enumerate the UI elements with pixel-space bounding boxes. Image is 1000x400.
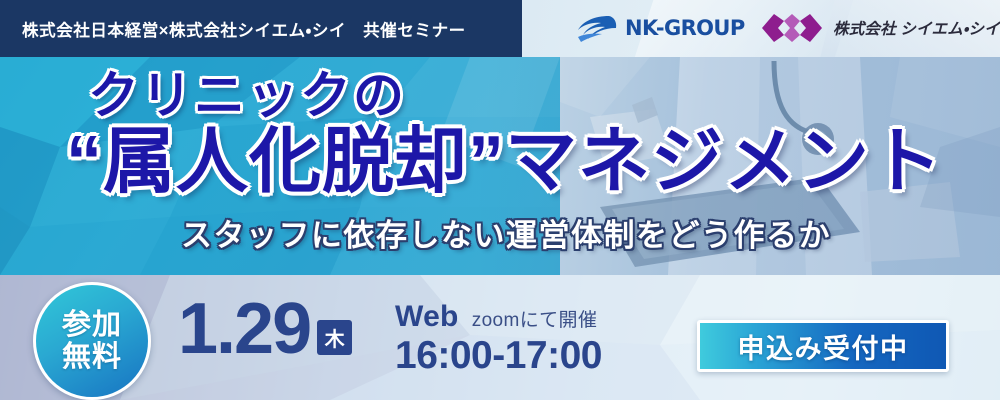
hero-color-tint: [0, 57, 1000, 275]
venue-label: Web: [395, 300, 459, 334]
venue-note: zoomにて開催: [472, 305, 598, 332]
event-date-number: 1.29: [178, 296, 310, 362]
cmc-logo-text: 株式会社 シイエム・シイ: [833, 17, 1000, 39]
hero-background: [0, 57, 1000, 275]
banner-header: 株式会社日本経営×株式会社シイエム・シイ 共催セミナー NK-GROUP 株式会…: [0, 0, 1000, 57]
free-badge-line-1: 参加: [62, 309, 122, 341]
cmc-logo: 株式会社 シイエム・シイ: [760, 12, 1000, 44]
cmc-zigzag-icon: [760, 13, 824, 43]
event-time: 16:00-17:00: [395, 336, 602, 377]
event-date: 1.29 木: [178, 296, 352, 362]
event-day-of-week-badge: 木: [317, 320, 352, 355]
event-venue: Web zoomにて開催 16:00-17:00: [395, 300, 602, 377]
seminar-banner: 株式会社日本経営×株式会社シイエム・シイ 共催セミナー NK-GROUP 株式会…: [0, 0, 1000, 400]
header-title: 株式会社日本経営×株式会社シイエム・シイ 共催セミナー: [22, 0, 466, 57]
nk-group-logo-text: NK-GROUP: [625, 16, 745, 40]
apply-now-button[interactable]: 申込み受付中: [697, 320, 949, 372]
nk-group-logo: NK-GROUP: [575, 11, 745, 45]
nk-swoosh-icon: [575, 13, 619, 43]
free-participation-badge: 参加 無料: [33, 282, 151, 400]
apply-now-button-label: 申込み受付中: [738, 327, 909, 366]
free-badge-line-2: 無料: [62, 341, 122, 373]
venue-row: Web zoomにて開催: [395, 300, 602, 334]
